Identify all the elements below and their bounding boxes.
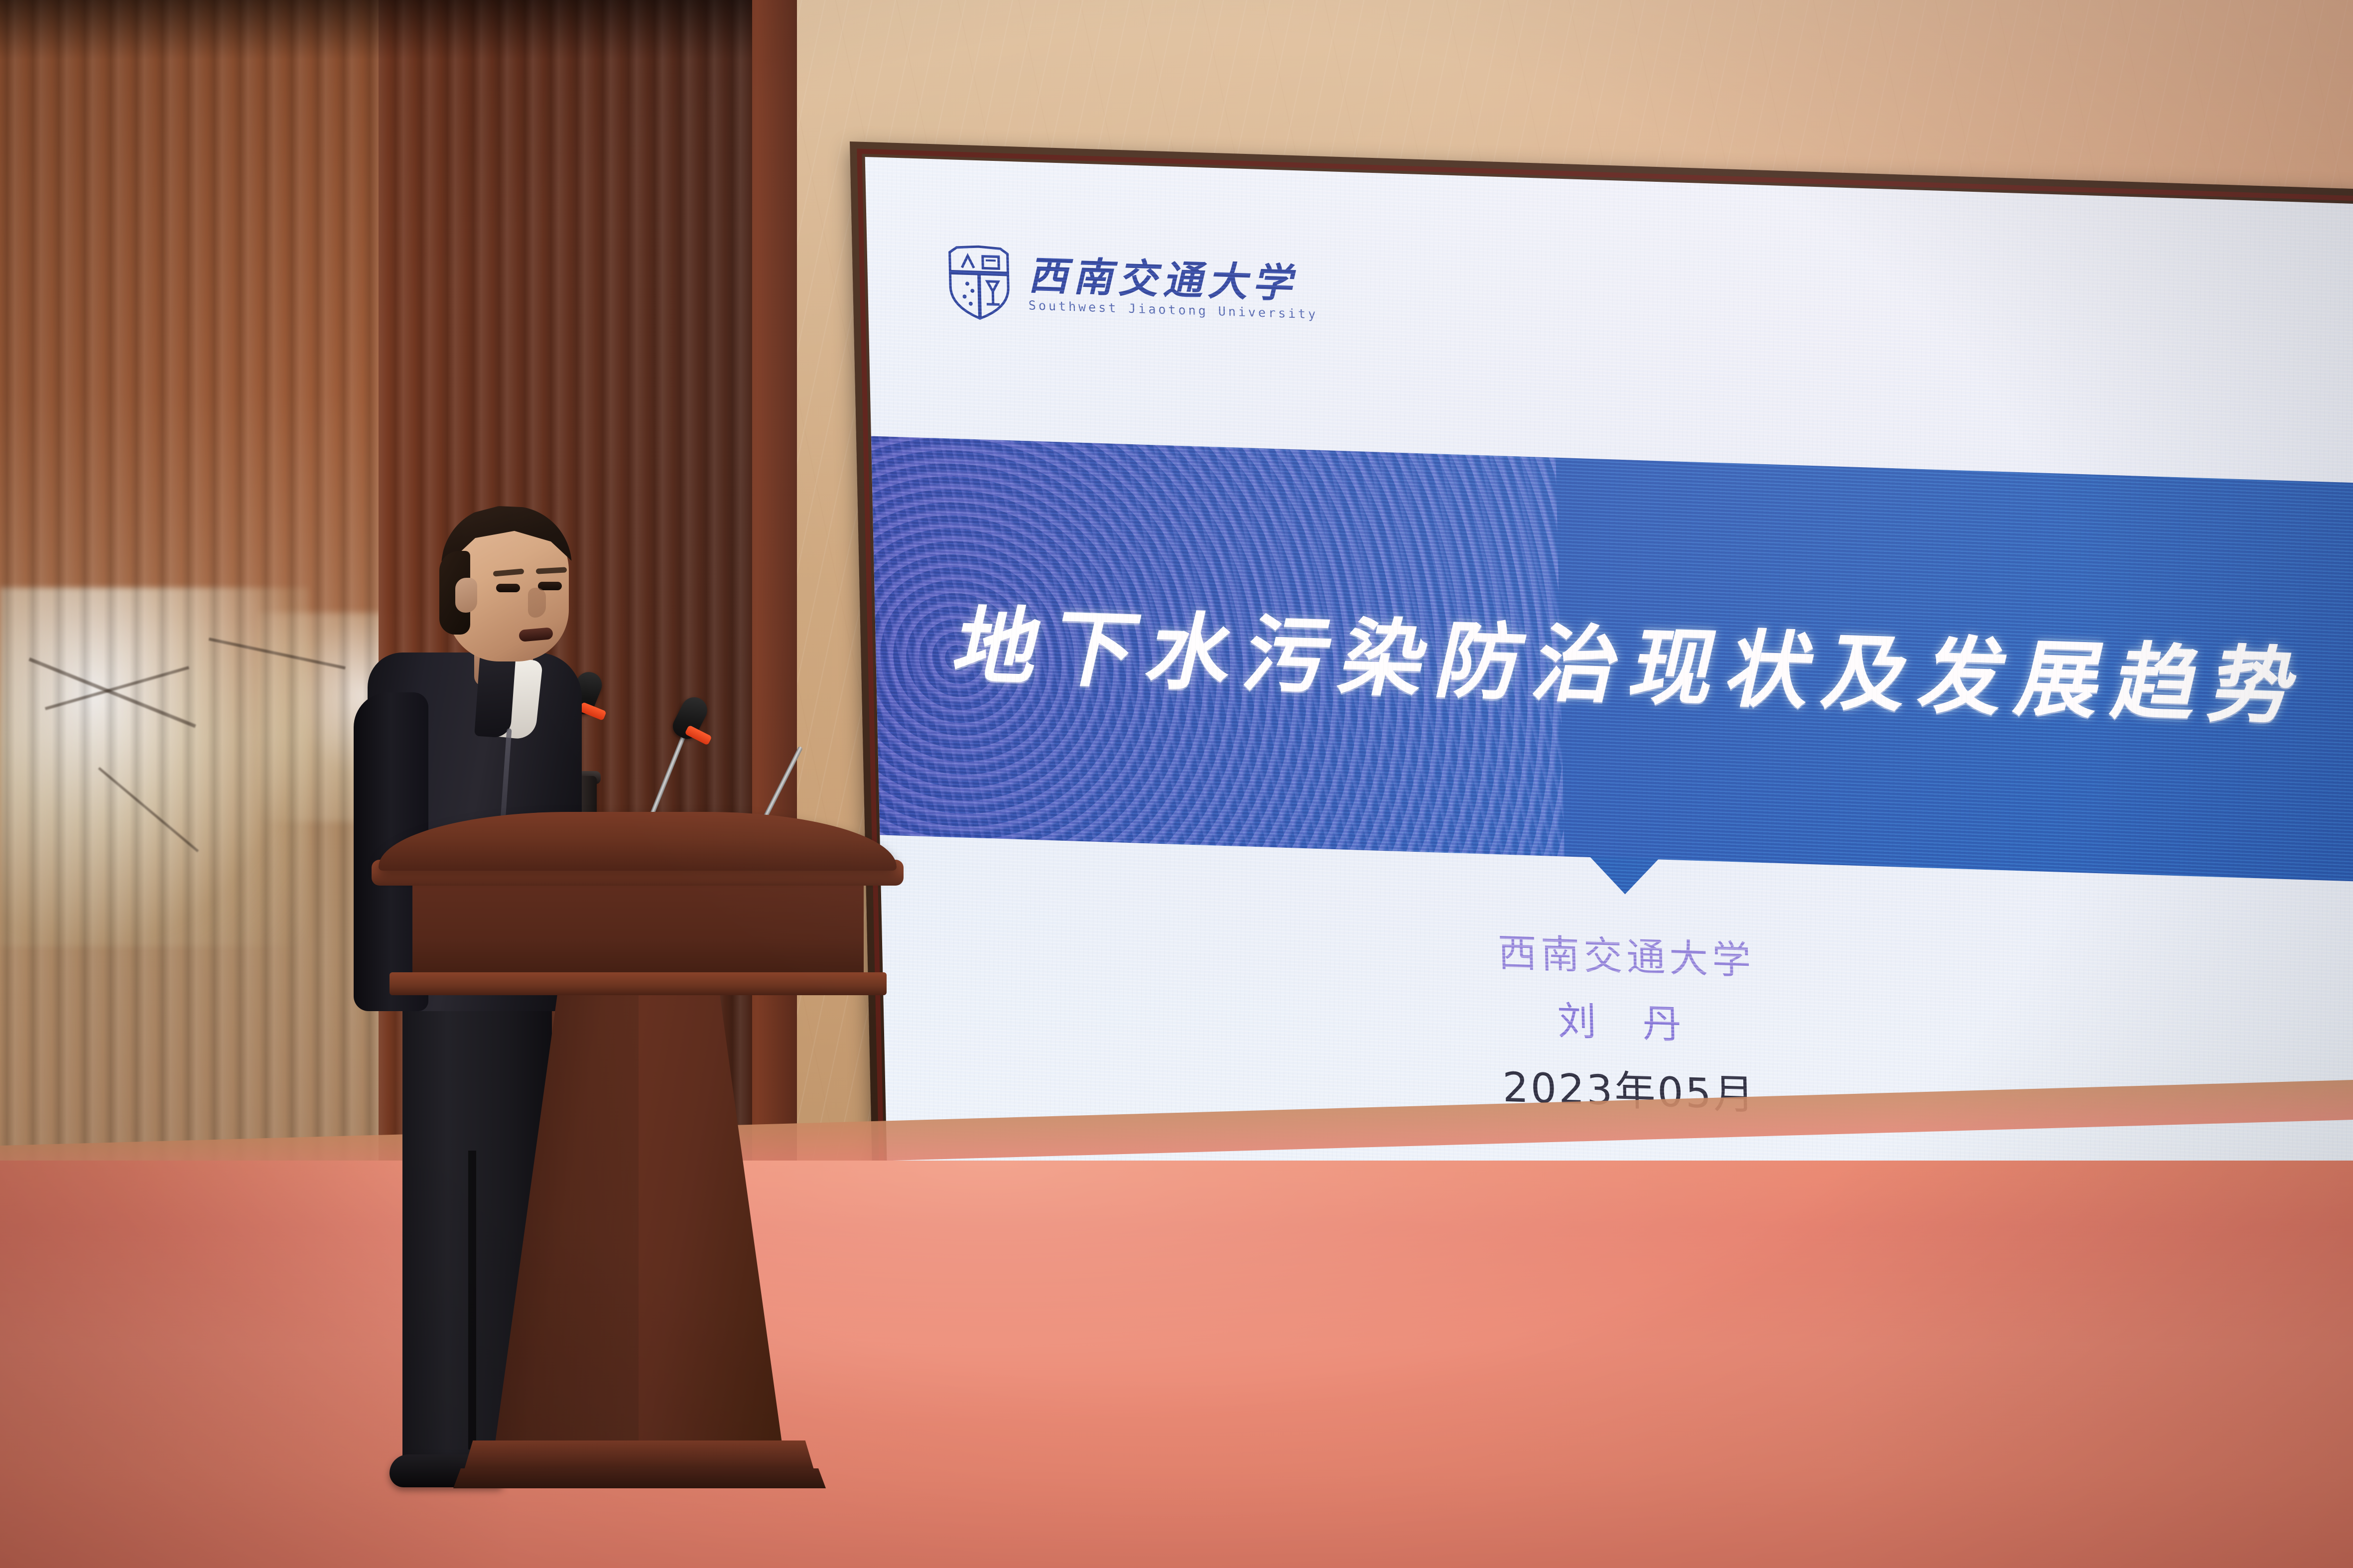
- podium-shelf: [390, 972, 887, 995]
- conference-photo-scene: 西南交通大学 Southwest Jiaotong University 地下水…: [0, 0, 2353, 1568]
- university-logo-block: 西南交通大学 Southwest Jiaotong University: [946, 244, 1318, 331]
- podium-plinth: [453, 1468, 826, 1488]
- band-notch-marker: [1589, 856, 1660, 895]
- led-presentation-screen[interactable]: 西南交通大学 Southwest Jiaotong University 地下水…: [850, 141, 2353, 1231]
- screen-display-area: 西南交通大学 Southwest Jiaotong University 地下水…: [865, 157, 2353, 1216]
- speaker-podium[interactable]: [379, 812, 897, 1529]
- logo-text-block: 西南交通大学 Southwest Jiaotong University: [1028, 256, 1318, 321]
- ear: [455, 578, 477, 613]
- nose: [528, 588, 546, 618]
- slide-title-band: 地下水污染防治现状及发展趋势: [871, 436, 2353, 882]
- presentation-slide: 西南交通大学 Southwest Jiaotong University 地下水…: [865, 157, 2353, 1216]
- podium-top-surface: [379, 812, 897, 871]
- eye: [496, 584, 520, 592]
- curtain-top-shadow: [0, 0, 752, 60]
- swjtu-shield-icon: [946, 244, 1012, 321]
- jacket-collar: [474, 652, 516, 739]
- logo-name-cn: 西南交通大学: [1028, 256, 1318, 305]
- podium-body: [412, 882, 864, 976]
